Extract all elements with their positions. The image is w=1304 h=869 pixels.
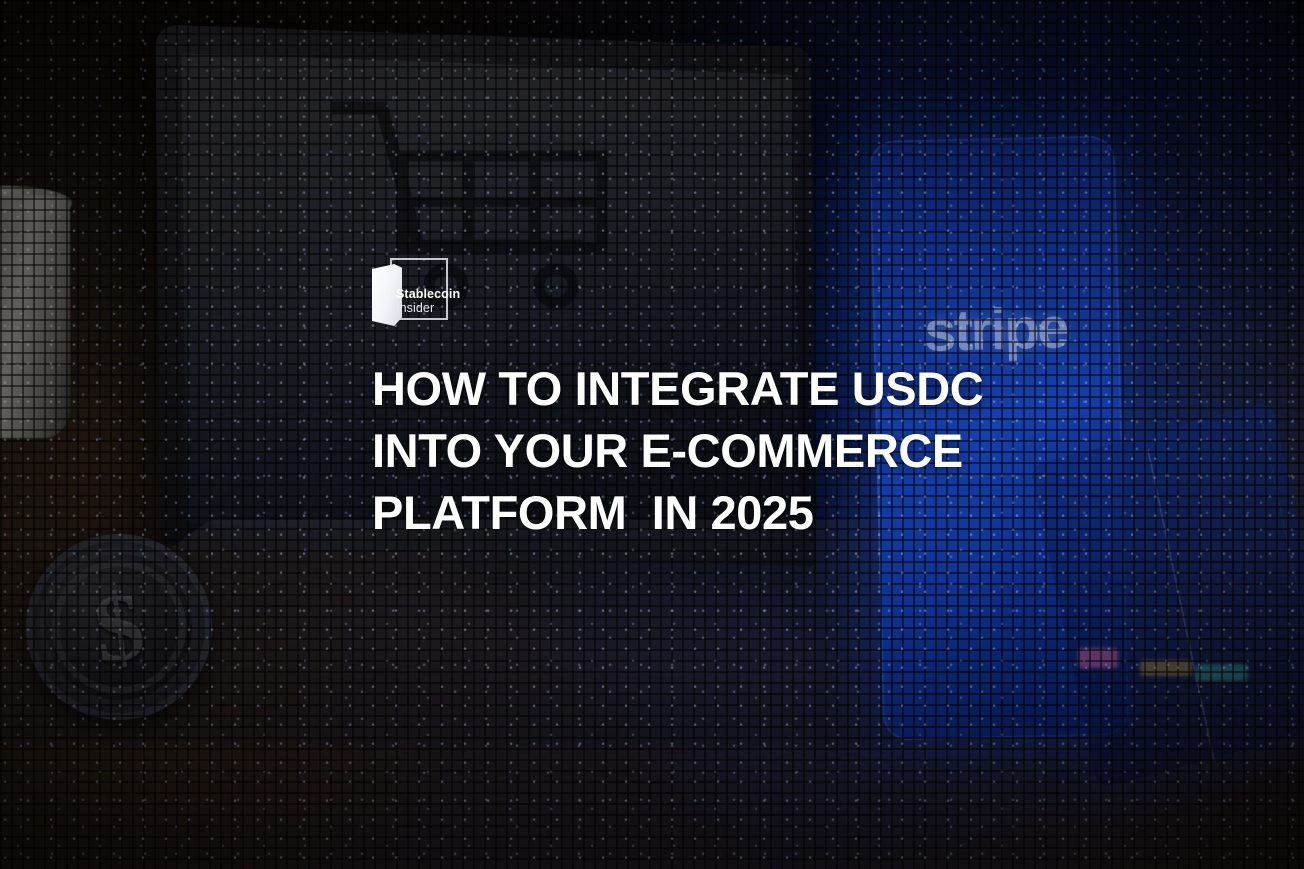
- app-swatch-teal: [1196, 664, 1248, 681]
- logo-wordmark: Stablecoin Insider: [396, 287, 460, 315]
- app-swatch-pink: [1078, 648, 1118, 668]
- headline-line-2: INTO YOUR E-COMMERCE: [372, 420, 972, 482]
- usdc-coin: $: [14, 522, 224, 732]
- coffee-cup: [0, 196, 70, 438]
- promo-banner: stripe $ Stablecoin Insider HOW TO INTEG…: [0, 0, 1304, 869]
- page-title: HOW TO INTEGRATE USDC INTO YOUR E-COMMER…: [372, 358, 972, 544]
- headline-line-1: HOW TO INTEGRATE USDC: [372, 358, 972, 420]
- headline-line-3: PLATFORM IN 2025: [372, 482, 972, 544]
- logo-brand-top: Stablecoin: [396, 287, 460, 301]
- app-swatch-amber: [1140, 660, 1192, 676]
- dollar-sign-icon: $: [14, 522, 224, 732]
- banner-content: Stablecoin Insider HOW TO INTEGRATE USDC…: [372, 258, 972, 544]
- stablecoin-insider-logo: Stablecoin Insider: [372, 258, 448, 332]
- logo-brand-bottom: Insider: [396, 301, 460, 315]
